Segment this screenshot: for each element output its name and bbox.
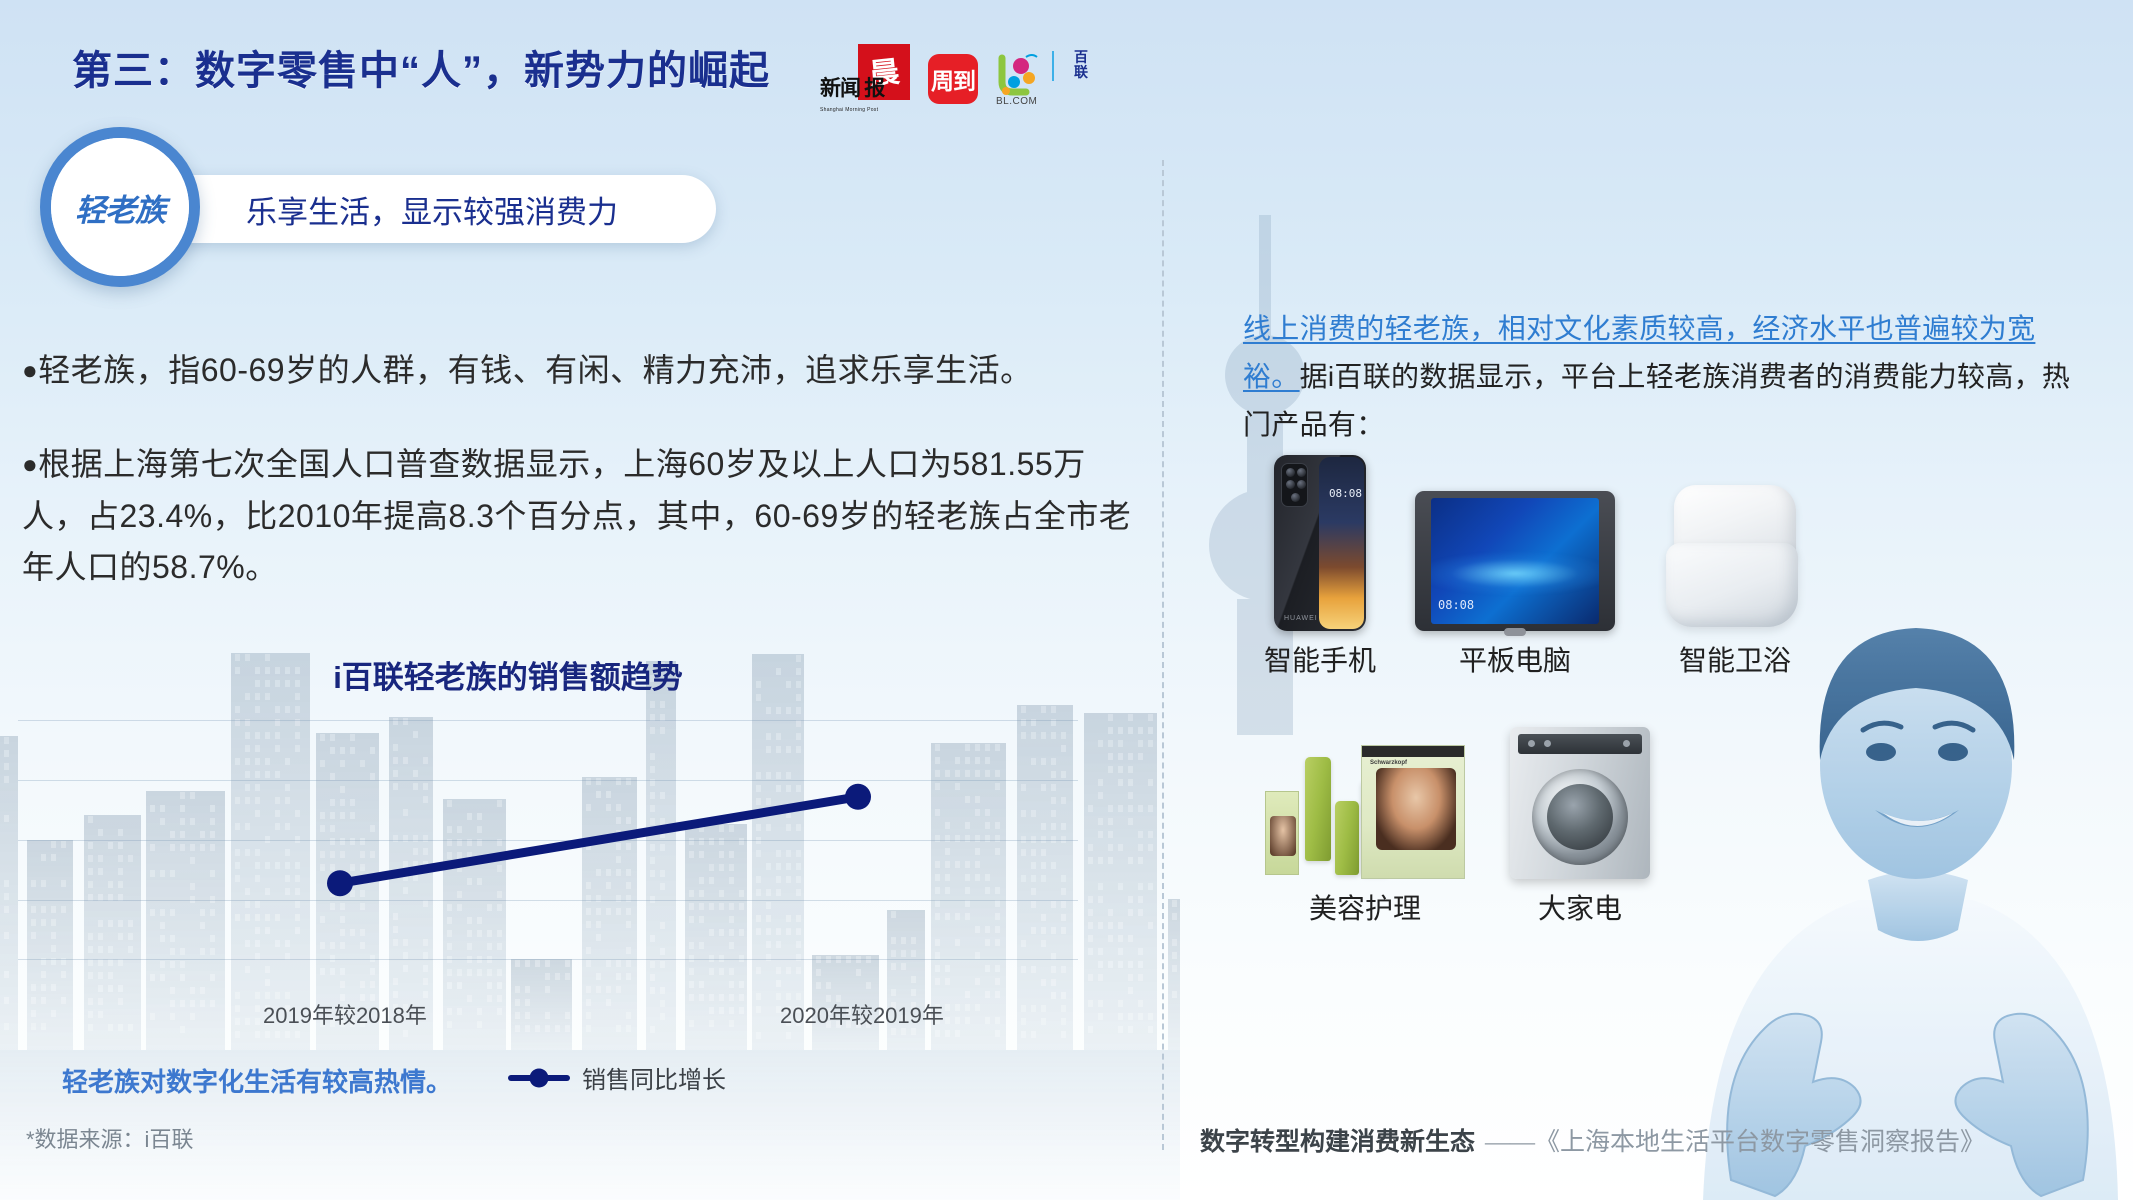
building-window [4,893,9,900]
building-window [1148,805,1153,812]
building-window [1148,883,1153,890]
building-window [1172,952,1177,959]
care-bottle-green [1335,801,1359,875]
building-window [1172,900,1177,907]
bailian-divider [1052,51,1054,81]
chart-x-label-0: 2019年较2018年 [263,998,427,1030]
bailian-wordmark: 百联 [1074,50,1088,80]
building-window [1172,991,1177,998]
building-window [4,776,9,783]
chart-x-label-1: 2020年较2019年 [780,998,944,1030]
bullet-marker-1: ● [22,355,38,385]
product-item-beauty-care[interactable]: Schwarzkopf 美容护理 [1250,729,1480,927]
building-window [1172,965,1177,972]
building-window [4,750,9,757]
building-window [1148,727,1153,734]
beauty-care-icon: Schwarzkopf [1265,729,1465,879]
left-paragraph-2: ●根据上海第七次全国人口普查数据显示，上海60岁及以上人口为581.55万人，占… [22,439,1142,594]
smart-toilet-icon [1660,481,1810,631]
legend-marker-icon [508,1075,570,1081]
box-top-strip [1362,746,1464,757]
building-window [1148,1013,1153,1020]
chenbao-wordmark: 新闻 报 [820,72,884,102]
legend-label: 销售同比增长 [582,1060,726,1095]
bailian-mark-icon [996,52,1038,96]
left-content-column: ●轻老族，指60-69岁的人群，有钱、有闲、精力充沛，追求乐享生活。 ●根据上海… [22,345,1142,594]
washer-control-panel [1518,734,1642,754]
column-divider [1162,160,1164,1150]
product-label-smart-toilet: 智能卫浴 [1640,639,1830,679]
bailian-logo: 百联 BL.COM [996,48,1088,104]
product-item-smart-toilet[interactable]: 智能卫浴 [1640,481,1830,679]
bullet-marker-2: ● [22,449,38,479]
right-paragraph-rest: 据i百联的数据显示，平台上轻老族消费者的消费能力较高，热门产品有： [1243,361,2070,440]
washer-door [1532,769,1628,865]
tablet-home-button [1504,628,1526,636]
washer-drum-glass [1547,784,1613,850]
building-window [4,906,9,913]
building-window [1148,922,1153,929]
care-tube [1305,757,1331,861]
building-window [1148,1026,1153,1033]
box-model-photo [1376,768,1456,850]
hair-color-box: Schwarzkopf [1361,745,1465,879]
badge-pill-text: 乐享生活，显示较强消费力 [246,187,618,232]
product-item-tablet[interactable]: 08:08 平板电脑 [1390,491,1640,679]
building-window [1148,844,1153,851]
phone-camera-module-icon [1281,463,1308,507]
slide-footer: 数字转型构建消费新生态 ——《上海本地生活平台数字零售洞察报告》 [1200,1122,1985,1158]
building-window [1148,714,1153,721]
smartphone-icon: 08:08 HUAWEI [1274,455,1366,631]
hair-dye-sachet [1265,791,1299,875]
building-window [1148,831,1153,838]
footer-sub-text: ——《上海本地生活平台数字零售洞察报告》 [1485,1122,1985,1158]
product-row-2: Schwarzkopf 美容护理 大家电 [1250,727,1970,927]
building-window [4,880,9,887]
badge-pill: 乐享生活，显示较强消费力 [126,175,716,243]
chart-legend: 销售同比增长 [508,1060,726,1095]
data-source-note: *数据来源：i百联 [26,1122,193,1154]
product-row-1: 08:08 HUAWEI 智能手机 08:08 平板电脑 智能卫浴 [1250,455,1970,679]
left-highlight-note: 轻老族对数字化生活有较高热情。 [62,1062,452,1099]
chart-plot-area [18,720,1078,960]
washing-machine-icon [1510,727,1650,879]
tablet-screen: 08:08 [1431,498,1599,624]
product-label-tablet: 平板电脑 [1390,639,1640,679]
slide-header: 第三：数字零售中“人”，新势力的崛起 晨 新闻 报 Shanghai Morni… [0,0,2133,135]
xinwen-chenbao-logo: 晨 新闻 报 Shanghai Morning Post [820,52,910,104]
building-window [4,1023,9,1030]
left-paragraph-2-text: 根据上海第七次全国人口普查数据显示，上海60岁及以上人口为581.55万人，占2… [22,446,1131,586]
building-window [1148,740,1153,747]
building-window [4,997,9,1004]
logo-strip: 晨 新闻 报 Shanghai Morning Post 周到 百联 BL.CO… [820,48,1088,104]
toilet-bowl [1666,543,1798,627]
popular-products-grid: 08:08 HUAWEI 智能手机 08:08 平板电脑 智能卫浴 [1250,455,1970,927]
tablet-clock-text: 08:08 [1438,598,1474,612]
zhoudao-logo: 周到 [928,54,978,104]
right-paragraph: 线上消费的轻老族，相对文化素质较高，经济水平也普遍较为宽裕。据i百联的数据显示，… [1243,305,2073,449]
left-paragraph-1: ●轻老族，指60-69岁的人群，有钱、有闲、精力充沛，追求乐享生活。 [22,345,1142,397]
phone-screen: 08:08 [1319,457,1364,629]
sales-trend-chart: i百联轻老族的销售额趋势 2019年较2018年 2020年较2019年 销售同… [18,640,1148,1080]
building-window [4,815,9,822]
product-item-large-appliance[interactable]: 大家电 [1480,727,1680,927]
building-window [1172,939,1177,946]
footer-main-text: 数字转型构建消费新生态 [1200,1122,1475,1158]
building [1168,899,1180,1050]
building-window [4,763,9,770]
chart-title: i百联轻老族的销售额趋势 [18,652,998,697]
tablet-wallpaper-wave [1431,551,1599,596]
building-window [4,932,9,939]
badge-circle-label: 轻老族 [75,185,165,230]
product-label-beauty-care: 美容护理 [1250,887,1480,927]
bailian-domain: BL.COM [996,96,1037,107]
product-label-large-appliance: 大家电 [1480,887,1680,927]
building [0,736,18,1050]
zhoudao-wordmark: 周到 [931,62,975,96]
chart-series-line [18,720,1078,960]
page-title: 第三：数字零售中“人”，新势力的崛起 [72,38,770,96]
right-content-column: 线上消费的轻老族，相对文化素质较高，经济水平也普遍较为宽裕。据i百联的数据显示，… [1243,305,2073,449]
building-window [1148,779,1153,786]
left-paragraph-1-text: 轻老族，指60-69岁的人群，有钱、有闲、精力充沛，追求乐享生活。 [38,352,1032,388]
tablet-icon: 08:08 [1415,491,1615,631]
building-window [4,737,9,744]
chenbao-english: Shanghai Morning Post [820,107,878,113]
box-brand-text: Schwarzkopf [1370,760,1407,766]
product-item-smartphone[interactable]: 08:08 HUAWEI 智能手机 [1250,455,1390,679]
building-window [4,971,9,978]
building-window [1172,913,1177,920]
phone-brand-text: HUAWEI [1284,615,1318,622]
phone-clock-text: 08:08 [1323,487,1366,500]
badge-circle-inner: 轻老族 [51,138,189,276]
product-label-smartphone: 智能手机 [1250,639,1390,679]
badge-circle: 轻老族 [40,127,200,287]
